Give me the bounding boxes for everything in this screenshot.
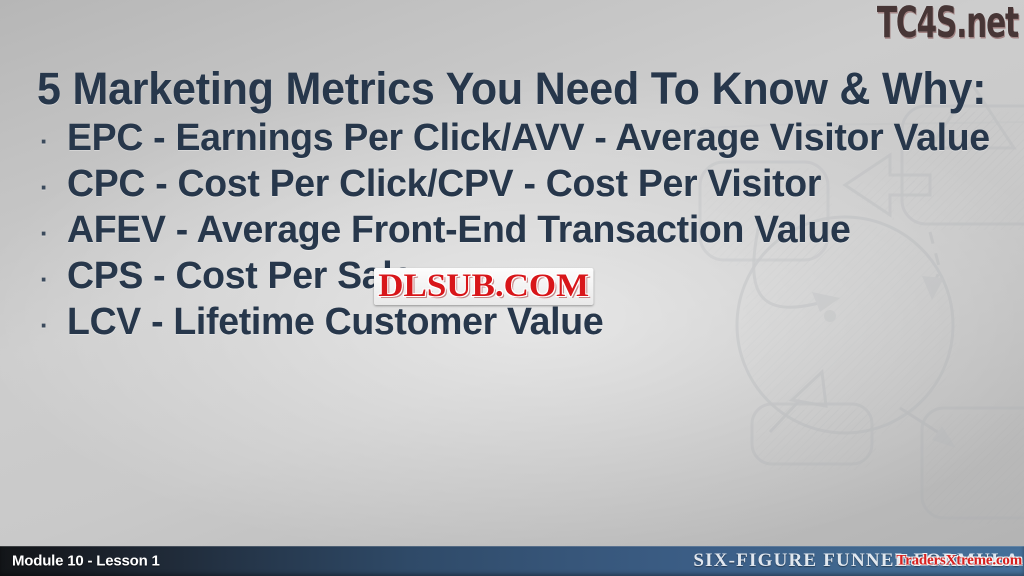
bullet-dot-icon: · — [40, 312, 67, 338]
footer-bar: Module 10 - Lesson 1 SIX-FIGURE FUNNEL F… — [0, 546, 1024, 576]
metrics-bullet-list: · EPC - Earnings Per Click/AVV - Average… — [40, 117, 1004, 347]
list-item: · LCV - Lifetime Customer Value — [40, 301, 1004, 347]
list-item: · CPC - Cost Per Click/CPV - Cost Per Vi… — [40, 163, 1004, 209]
tc4s-watermark: TC4S.net — [877, 0, 1018, 47]
list-item: · EPC - Earnings Per Click/AVV - Average… — [40, 117, 1004, 163]
bullet-dot-icon: · — [40, 174, 67, 200]
lesson-label: Module 10 - Lesson 1 — [12, 553, 160, 570]
bullet-dot-icon: · — [40, 128, 67, 154]
list-item-label: CPS - Cost Per Sale — [67, 255, 413, 298]
bullet-dot-icon: · — [40, 266, 67, 292]
slide-canvas: 5 Marketing Metrics You Need To Know & W… — [0, 0, 1024, 576]
tradersxtreme-watermark: TradersXtreme.com — [896, 553, 1022, 570]
list-item-label: CPC - Cost Per Click/CPV - Cost Per Visi… — [67, 163, 821, 206]
list-item-label: EPC - Earnings Per Click/AVV - Average V… — [67, 117, 990, 160]
list-item-label: LCV - Lifetime Customer Value — [67, 301, 603, 344]
slide-title: 5 Marketing Metrics You Need To Know & W… — [37, 63, 986, 115]
list-item: · AFEV - Average Front-End Transaction V… — [40, 209, 1004, 255]
bullet-dot-icon: · — [40, 220, 67, 246]
list-item-label: AFEV - Average Front-End Transaction Val… — [67, 209, 850, 252]
dlsub-watermark: DLSUB.COM — [374, 268, 593, 305]
